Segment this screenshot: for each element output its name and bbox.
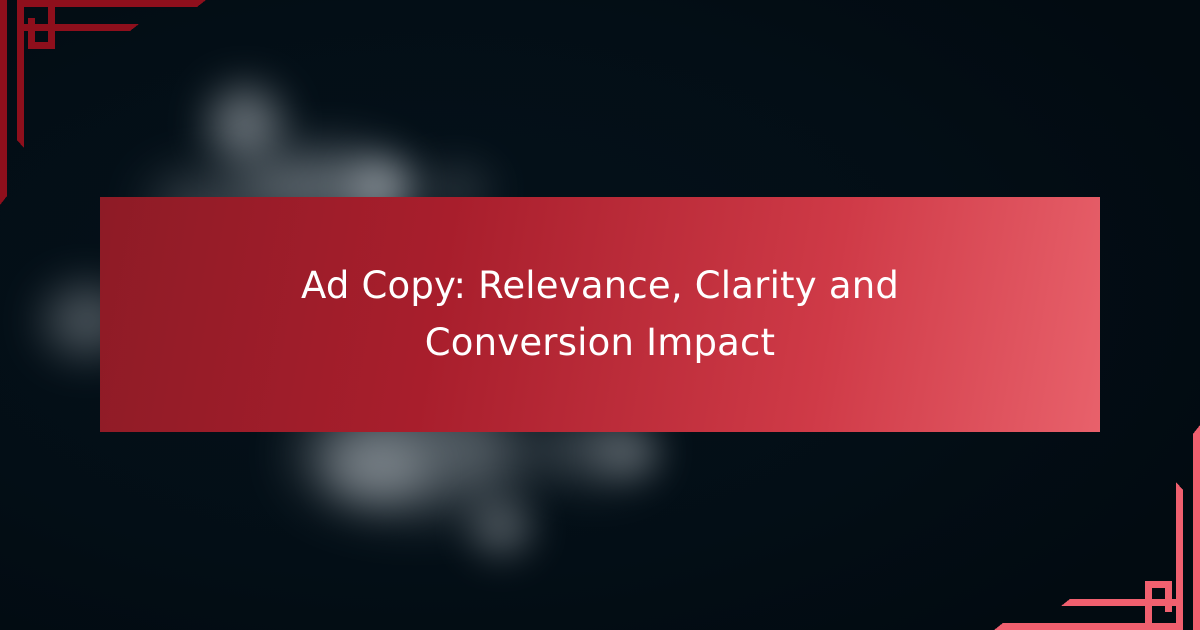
corner-line-outer-vertical (0, 0, 7, 196)
corner-square-bottom-edge (28, 42, 55, 49)
poster-canvas: Ad Copy: Relevance, Clarity and Conversi… (0, 0, 1200, 630)
corner-frame-top-left (0, 0, 260, 210)
corner-square-top-edge (1145, 581, 1172, 588)
corner-line-top-horizontal (17, 0, 197, 7)
title-banner: Ad Copy: Relevance, Clarity and Conversi… (100, 197, 1100, 432)
page-title: Ad Copy: Relevance, Clarity and Conversi… (220, 258, 980, 370)
corner-line-outer-vertical (1193, 434, 1200, 630)
corner-frame-bottom-right (940, 420, 1200, 630)
corner-line-bottom-horizontal (1003, 623, 1183, 630)
